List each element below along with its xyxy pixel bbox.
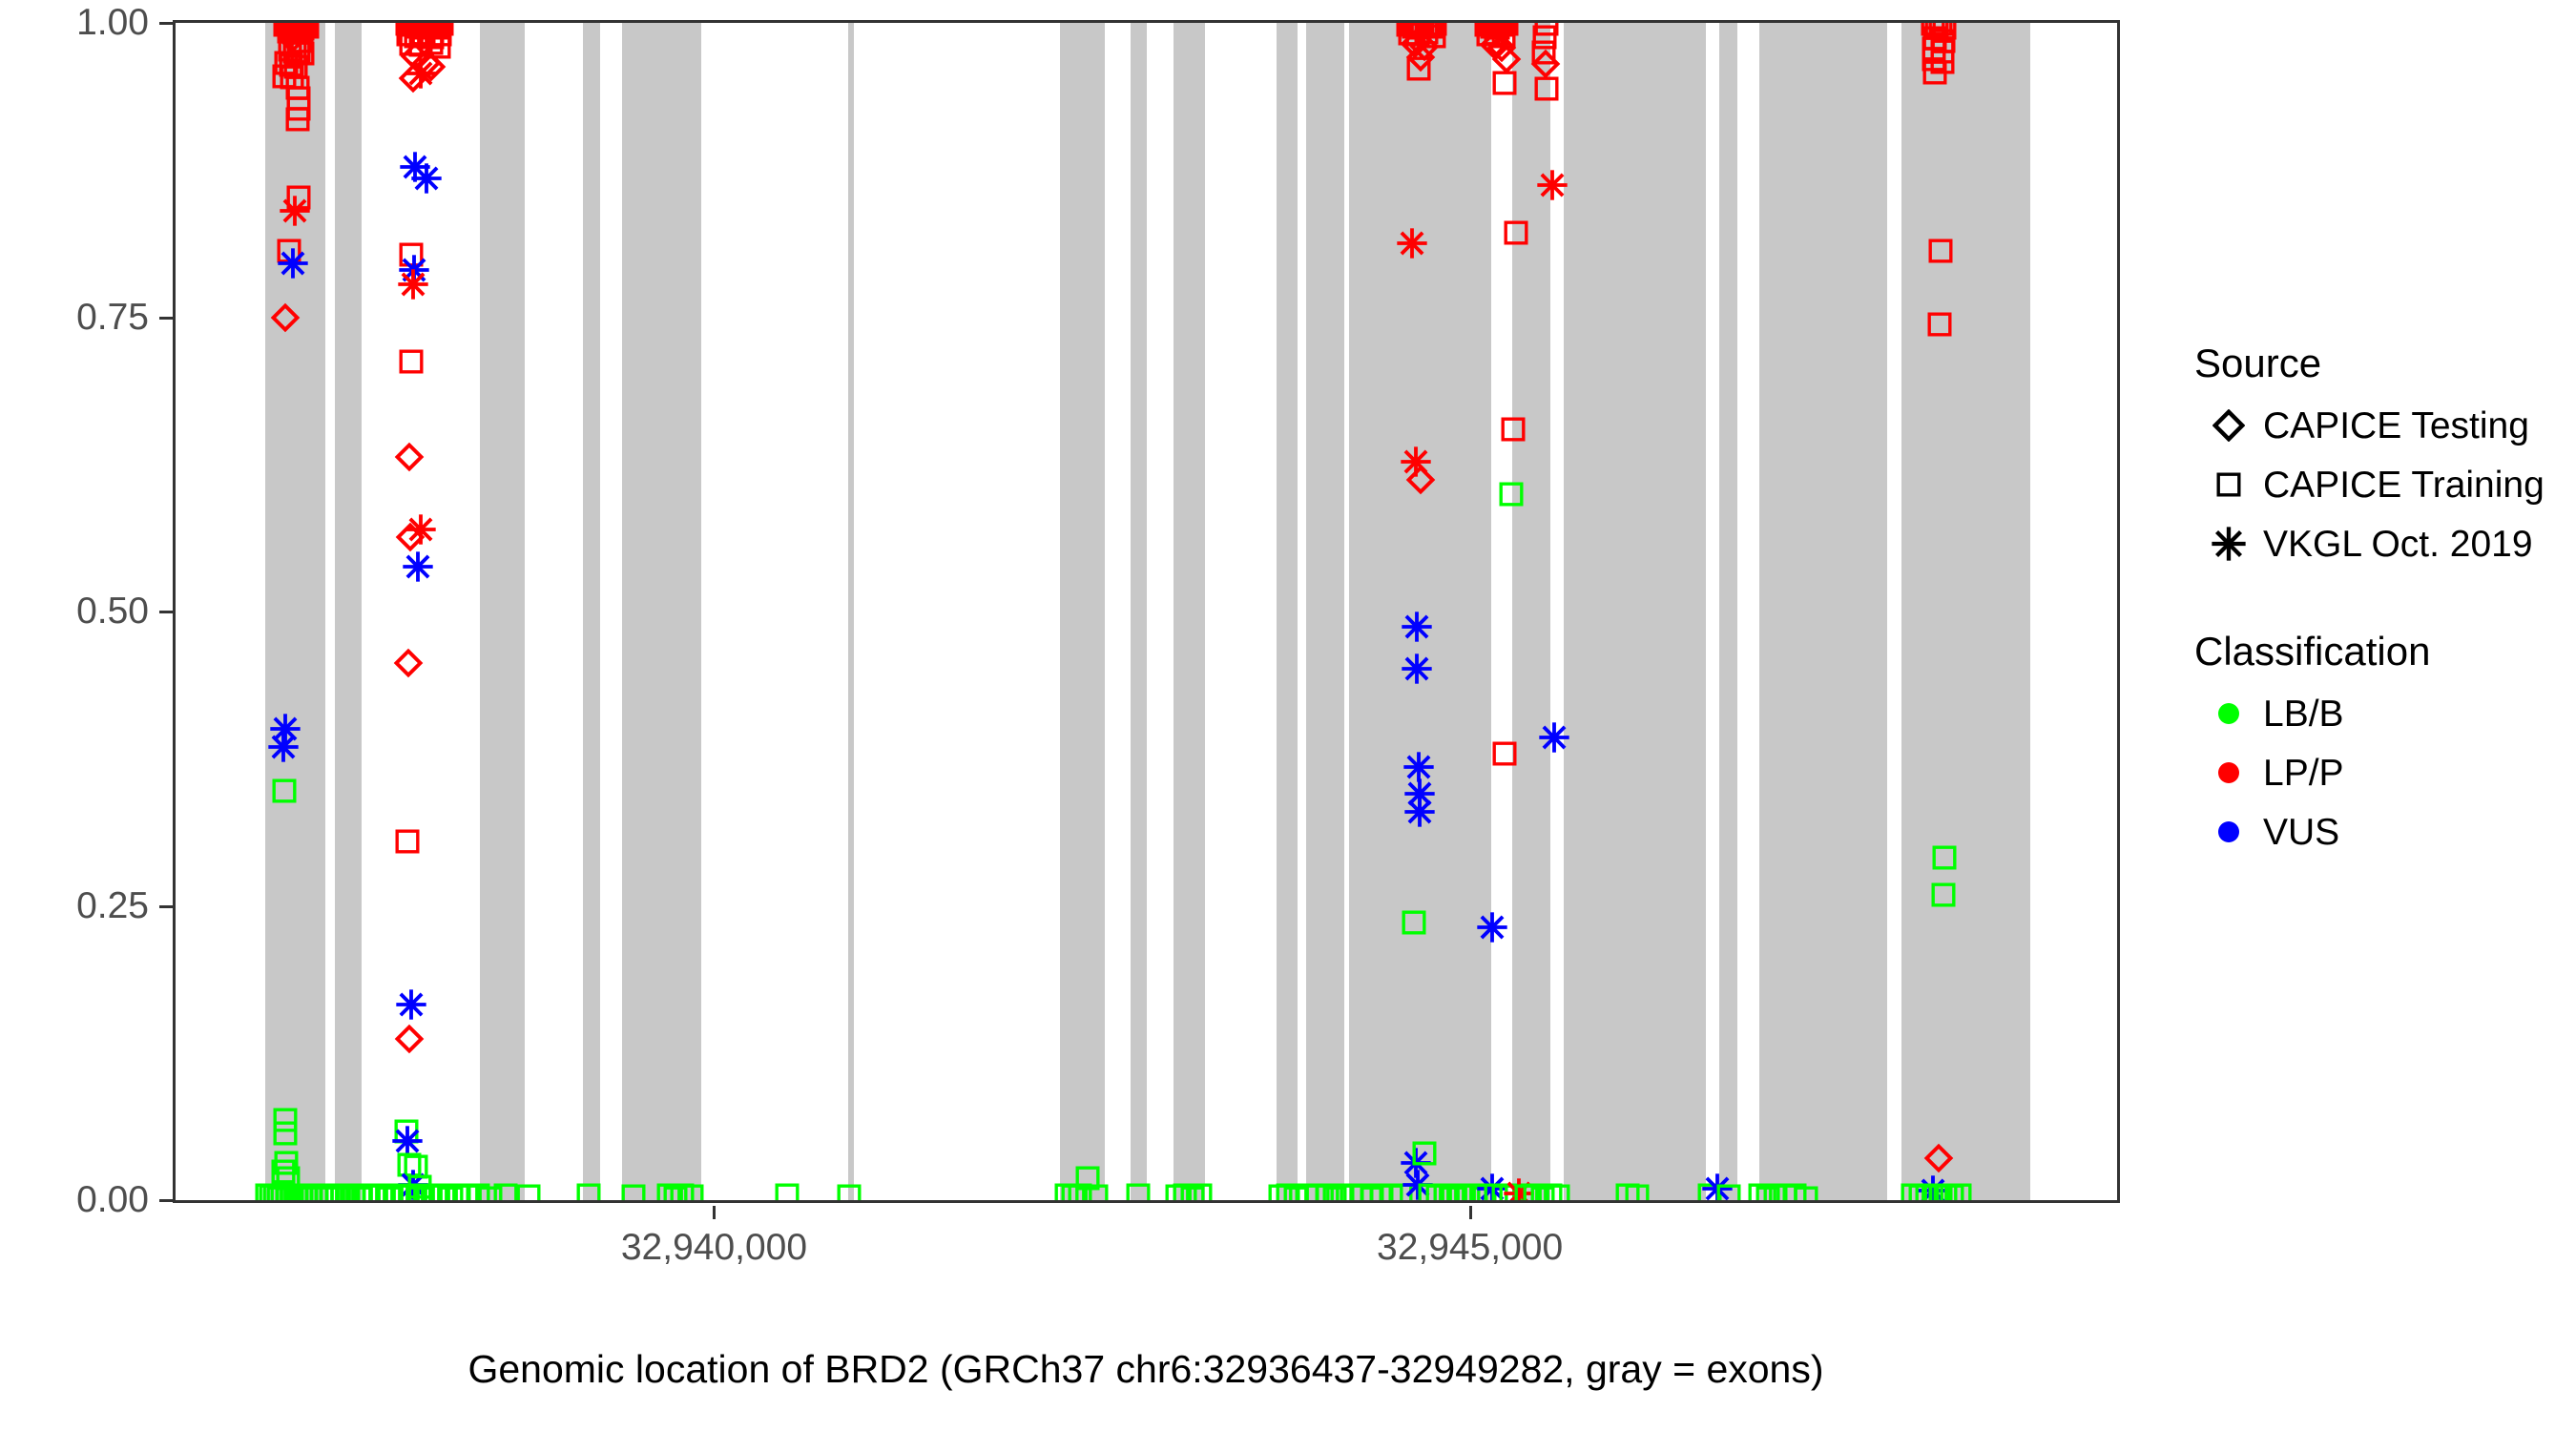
legend-label: LB/B bbox=[2263, 695, 2344, 733]
data-point bbox=[418, 20, 443, 39]
exon-band bbox=[335, 23, 361, 1200]
exon-band bbox=[265, 23, 325, 1200]
data-point bbox=[413, 20, 438, 40]
data-point bbox=[399, 255, 429, 285]
exon-band bbox=[1759, 23, 1888, 1200]
data-point bbox=[395, 20, 420, 36]
data-point bbox=[401, 20, 426, 36]
data-point bbox=[398, 1170, 428, 1200]
exon-band bbox=[480, 23, 525, 1200]
data-point bbox=[399, 349, 424, 374]
data-point bbox=[401, 42, 429, 71]
exon-band bbox=[1719, 23, 1736, 1200]
data-point bbox=[419, 31, 444, 55]
chart-root: CAPICE score (pathogenicity estimate) 0.… bbox=[0, 0, 2576, 1431]
data-point bbox=[405, 20, 430, 36]
data-point bbox=[420, 25, 445, 50]
legend-label: CAPICE Training bbox=[2263, 467, 2545, 504]
data-point bbox=[424, 1184, 448, 1203]
data-point bbox=[422, 20, 447, 37]
legend-title-source: Source bbox=[2194, 343, 2566, 384]
exon-band bbox=[1131, 23, 1147, 1200]
data-point bbox=[417, 52, 446, 81]
color-swatch-icon bbox=[2194, 760, 2263, 785]
data-point bbox=[392, 1184, 417, 1203]
legend-title-classification: Classification bbox=[2194, 632, 2566, 672]
legend-item-source-asterisk[interactable]: VKGL Oct. 2019 bbox=[2194, 517, 2566, 570]
data-point bbox=[408, 32, 433, 57]
exon-band bbox=[848, 23, 854, 1200]
data-point bbox=[431, 1183, 456, 1203]
legend-item-source-diamond[interactable]: CAPICE Testing bbox=[2194, 399, 2566, 452]
x-tick-label: 32,940,000 bbox=[542, 1229, 885, 1266]
data-point bbox=[411, 21, 436, 46]
data-point bbox=[410, 20, 435, 36]
data-point bbox=[407, 1174, 432, 1199]
data-point bbox=[429, 20, 454, 36]
data-point bbox=[362, 1184, 386, 1203]
legend-label: LP/P bbox=[2263, 755, 2344, 792]
data-point bbox=[447, 1183, 471, 1203]
legend-rows-source: CAPICE TestingCAPICE TrainingVKGL Oct. 2… bbox=[2194, 399, 2566, 570]
data-point bbox=[411, 163, 442, 194]
data-point bbox=[398, 269, 428, 300]
legend-label: VKGL Oct. 2019 bbox=[2263, 526, 2533, 563]
data-point bbox=[399, 242, 424, 267]
data-point bbox=[377, 1186, 402, 1203]
data-point bbox=[1488, 20, 1513, 36]
data-point bbox=[396, 22, 421, 47]
legend-item-classification-VUS[interactable]: VUS bbox=[2194, 805, 2566, 859]
x-tick-mark bbox=[713, 1206, 716, 1219]
data-point bbox=[369, 1183, 394, 1203]
exon-band bbox=[1512, 23, 1550, 1200]
data-point bbox=[392, 1126, 423, 1156]
color-swatch-icon bbox=[2194, 701, 2263, 726]
data-point bbox=[412, 49, 441, 77]
data-point bbox=[399, 31, 424, 56]
plot-panel bbox=[173, 20, 2120, 1203]
data-point bbox=[396, 989, 426, 1020]
data-point bbox=[398, 20, 423, 37]
data-point bbox=[426, 34, 451, 59]
exon-band bbox=[1060, 23, 1105, 1200]
data-point bbox=[405, 514, 436, 545]
legend-group-classification: Classification LB/BLP/PVUS bbox=[2194, 632, 2566, 859]
data-point bbox=[415, 20, 440, 36]
legend-label: CAPICE Testing bbox=[2263, 407, 2529, 445]
data-point bbox=[404, 20, 428, 39]
y-tick-label: 1.00 bbox=[0, 4, 149, 41]
exon-band bbox=[1306, 23, 1345, 1200]
data-point bbox=[404, 24, 428, 49]
y-tick-label: 0.75 bbox=[0, 299, 149, 336]
exon-band bbox=[1349, 23, 1491, 1200]
data-point bbox=[394, 1119, 419, 1144]
data-point bbox=[427, 22, 452, 47]
legend-item-classification-LP-P[interactable]: LP/P bbox=[2194, 746, 2566, 799]
y-tick-mark bbox=[159, 611, 173, 613]
square-icon bbox=[2194, 472, 2263, 497]
y-tick-mark bbox=[159, 1199, 173, 1202]
x-tick-label: 32,945,000 bbox=[1298, 1229, 1642, 1266]
data-point bbox=[397, 1152, 422, 1177]
data-point bbox=[400, 152, 430, 182]
legend-rows-classification: LB/BLP/PVUS bbox=[2194, 687, 2566, 859]
y-tick-label: 0.00 bbox=[0, 1181, 149, 1218]
data-point bbox=[775, 1183, 800, 1203]
data-point bbox=[454, 1184, 479, 1203]
data-point bbox=[394, 649, 423, 677]
data-point bbox=[399, 64, 427, 93]
y-tick-mark bbox=[159, 22, 173, 25]
legend: Source CAPICE TestingCAPICE TrainingVKGL… bbox=[2194, 343, 2566, 920]
y-tick-mark bbox=[159, 905, 173, 908]
data-point bbox=[395, 1025, 424, 1053]
y-tick-label: 0.50 bbox=[0, 592, 149, 630]
exon-band bbox=[1277, 23, 1298, 1200]
data-point bbox=[416, 1183, 441, 1203]
x-tick-mark bbox=[1469, 1206, 1472, 1219]
data-point bbox=[407, 1186, 432, 1203]
y-tick-mark bbox=[159, 317, 173, 320]
data-point bbox=[400, 1183, 425, 1203]
data-point bbox=[395, 443, 424, 471]
data-point bbox=[439, 1186, 464, 1203]
exon-band bbox=[583, 23, 600, 1200]
x-axis-title: Genomic location of BRD2 (GRCh37 chr6:32… bbox=[172, 1347, 2120, 1392]
legend-group-source: Source CAPICE TestingCAPICE TrainingVKGL… bbox=[2194, 343, 2566, 570]
exon-band bbox=[1901, 23, 2030, 1200]
data-point bbox=[403, 551, 433, 582]
data-point bbox=[408, 20, 433, 37]
data-point bbox=[396, 523, 425, 551]
legend-item-source-square[interactable]: CAPICE Training bbox=[2194, 458, 2566, 511]
color-swatch-icon bbox=[2194, 819, 2263, 844]
data-point bbox=[420, 20, 445, 36]
data-point bbox=[404, 1154, 428, 1179]
data-point bbox=[405, 58, 436, 89]
exon-band bbox=[1174, 23, 1205, 1200]
exon-band bbox=[622, 23, 702, 1200]
data-point bbox=[384, 1183, 409, 1203]
y-tick-label: 0.25 bbox=[0, 887, 149, 924]
diamond-icon bbox=[2194, 409, 2263, 442]
data-point bbox=[425, 20, 449, 36]
legend-item-classification-LB-B[interactable]: LB/B bbox=[2194, 687, 2566, 740]
asterisk-icon bbox=[2194, 527, 2263, 561]
exon-band bbox=[1564, 23, 1706, 1200]
legend-label: VUS bbox=[2263, 814, 2339, 851]
data-point bbox=[426, 20, 451, 40]
data-point bbox=[395, 829, 420, 854]
